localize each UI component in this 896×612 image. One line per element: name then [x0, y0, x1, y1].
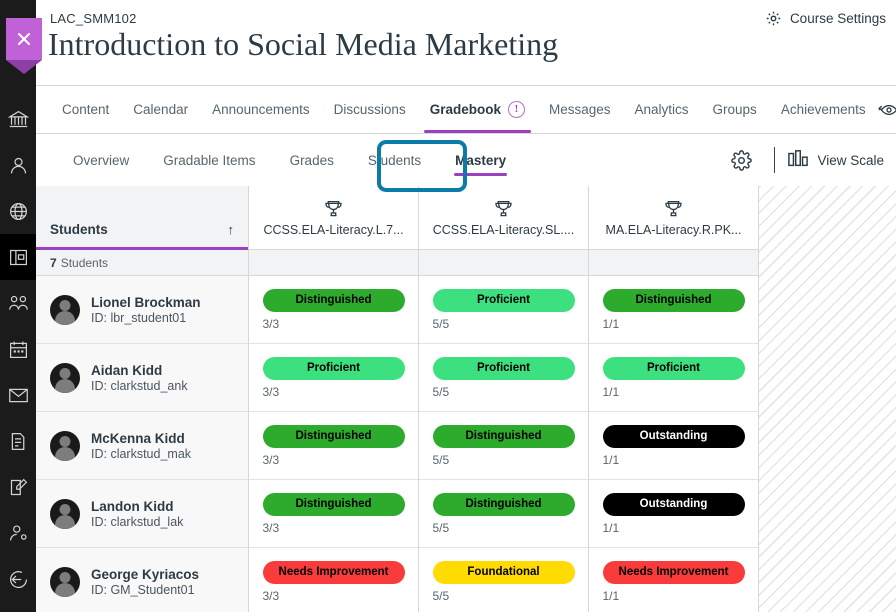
mastery-gradebook-grid: Students ↑ 7 Students Lionel BrockmanID:…	[36, 186, 896, 612]
mastery-rating-pill[interactable]: Outstanding	[603, 425, 745, 448]
tab-students[interactable]: Students	[351, 134, 438, 186]
student-row[interactable]: Landon KiddID: clarkstud_lak	[36, 480, 248, 548]
course-nav: ContentCalendarAnnouncementsDiscussionsG…	[36, 86, 896, 134]
mastery-score: 5/5	[433, 317, 575, 331]
mastery-rating-pill[interactable]: Distinguished	[433, 425, 575, 448]
student-row[interactable]: Lionel BrockmanID: lbr_student01	[36, 276, 248, 344]
mastery-cell: Foundational5/5	[419, 548, 588, 612]
gradebook-alert-badge: !	[508, 101, 525, 118]
nav-item-label: Gradebook	[430, 102, 501, 117]
mastery-cell: Proficient3/3	[249, 344, 418, 412]
student-id: ID: clarkstud_ank	[91, 379, 188, 393]
mastery-rating-pill[interactable]: Outstanding	[603, 493, 745, 516]
outcome-column-header[interactable]: CCSS.ELA-Literacy.SL....	[419, 186, 588, 250]
student-name: Landon Kidd	[91, 499, 183, 514]
student-id: ID: lbr_student01	[91, 311, 201, 325]
nav-item-gradebook[interactable]: Gradebook!	[418, 86, 537, 133]
sort-ascending-icon[interactable]: ↑	[228, 222, 235, 237]
mastery-score: 3/3	[263, 453, 405, 467]
assignments-icon[interactable]	[0, 418, 36, 464]
student-id: ID: GM_Student01	[91, 583, 199, 597]
gradebook-mastery-page: LAC_SMM102 Introduction to Social Media …	[0, 0, 896, 612]
outcome-column: MA.ELA-Literacy.R.PK...Distinguished1/1P…	[588, 186, 758, 612]
student-name: Lionel Brockman	[91, 295, 201, 310]
mastery-rating-pill[interactable]: Needs Improvement	[263, 561, 405, 584]
empty-grid-area	[758, 186, 896, 612]
student-view-eye-icon[interactable]	[878, 100, 896, 120]
mastery-score: 5/5	[433, 521, 575, 535]
student-name: Aidan Kidd	[91, 363, 188, 378]
mastery-score: 1/1	[603, 317, 745, 331]
nav-item-label: Content	[62, 102, 109, 117]
tab-label: Mastery	[455, 153, 506, 168]
nav-item-label: Analytics	[635, 102, 689, 117]
avatar	[50, 363, 80, 393]
student-count-label: Students	[61, 256, 108, 270]
close-icon[interactable]	[6, 18, 42, 60]
mastery-score: 3/3	[263, 317, 405, 331]
tab-gradable-items[interactable]: Gradable Items	[146, 134, 272, 186]
nav-item-calendar[interactable]: Calendar	[121, 86, 200, 133]
mastery-rating-pill[interactable]: Proficient	[603, 357, 745, 380]
tab-label: Overview	[73, 153, 129, 168]
globe-icon[interactable]	[0, 188, 36, 234]
mastery-cell: Needs Improvement3/3	[249, 548, 418, 612]
mastery-score: 3/3	[263, 385, 405, 399]
mastery-cell: Outstanding1/1	[589, 412, 758, 480]
nav-item-groups[interactable]: Groups	[701, 86, 769, 133]
tab-label: Grades	[290, 153, 334, 168]
nav-item-discussions[interactable]: Discussions	[322, 86, 418, 133]
mastery-cell: Distinguished3/3	[249, 480, 418, 548]
student-count: 7 Students	[36, 250, 248, 276]
tab-label: Gradable Items	[163, 153, 255, 168]
mastery-rating-pill[interactable]: Distinguished	[603, 289, 745, 312]
account-icon[interactable]	[0, 142, 36, 188]
mastery-cell: Distinguished3/3	[249, 276, 418, 344]
outcome-trophy-icon	[493, 199, 514, 220]
outcome-column: CCSS.ELA-Literacy.SL....Proficient5/5Pro…	[418, 186, 588, 612]
outcome-column-header[interactable]: CCSS.ELA-Literacy.L.7...	[249, 186, 418, 250]
mastery-score: 5/5	[433, 385, 575, 399]
nav-item-announcements[interactable]: Announcements	[200, 86, 322, 133]
global-nav-rail	[0, 0, 36, 612]
student-count-number: 7	[50, 256, 57, 270]
outcome-columns: CCSS.ELA-Literacy.L.7...Distinguished3/3…	[248, 186, 758, 612]
groups-icon[interactable]	[0, 280, 36, 326]
tab-overview[interactable]: Overview	[56, 134, 146, 186]
institution-icon[interactable]	[0, 96, 36, 142]
student-row[interactable]: Aidan KiddID: clarkstud_ank	[36, 344, 248, 412]
nav-item-analytics[interactable]: Analytics	[623, 86, 701, 133]
mastery-rating-pill[interactable]: Proficient	[433, 289, 575, 312]
outcome-column-header[interactable]: MA.ELA-Literacy.R.PK...	[589, 186, 758, 250]
outcome-title: CCSS.ELA-Literacy.L.7...	[263, 223, 403, 237]
student-name: George Kyriacos	[91, 567, 199, 582]
student-id: ID: clarkstud_mak	[91, 447, 191, 461]
tab-label: Students	[368, 153, 421, 168]
avatar	[50, 295, 80, 325]
nav-item-label: Groups	[713, 102, 757, 117]
calendar-icon[interactable]	[0, 326, 36, 372]
outcome-title: CCSS.ELA-Literacy.SL....	[433, 223, 575, 237]
outcome-column-spacer	[249, 250, 418, 276]
mastery-rating-pill[interactable]: Distinguished	[263, 289, 405, 312]
student-row[interactable]: McKenna KiddID: clarkstud_mak	[36, 412, 248, 480]
view-scale-button[interactable]: View Scale	[787, 149, 888, 172]
course-nav-list: ContentCalendarAnnouncementsDiscussionsG…	[36, 86, 896, 133]
subnav-actions: View Scale	[721, 134, 888, 186]
compose-icon[interactable]	[0, 464, 36, 510]
mastery-score: 1/1	[603, 453, 745, 467]
nav-item-label: Announcements	[212, 102, 310, 117]
mastery-cell: Proficient5/5	[419, 344, 588, 412]
course-settings-button[interactable]: Course Settings	[765, 10, 886, 27]
courses-icon[interactable]	[0, 234, 36, 280]
nav-item-achievements[interactable]: Achievements	[769, 86, 878, 133]
students-header-label: Students	[50, 222, 108, 237]
students-column: Students ↑ 7 Students Lionel BrockmanID:…	[36, 186, 248, 612]
mastery-rating-pill[interactable]: Distinguished	[263, 493, 405, 516]
rail-icon-list	[0, 96, 36, 602]
inbox-icon[interactable]	[0, 372, 36, 418]
gradebook-subnav: OverviewGradable ItemsGradesStudentsMast…	[36, 134, 896, 186]
mastery-score: 3/3	[263, 521, 405, 535]
settings-gear-icon[interactable]	[721, 144, 762, 177]
mastery-cell: Distinguished1/1	[589, 276, 758, 344]
outcome-column-spacer	[589, 250, 758, 276]
bar-chart-icon	[787, 149, 809, 172]
mastery-cell: Distinguished5/5	[419, 480, 588, 548]
mastery-rating-pill[interactable]: Distinguished	[433, 493, 575, 516]
outcome-title: MA.ELA-Literacy.R.PK...	[606, 223, 742, 237]
outcome-column: CCSS.ELA-Literacy.L.7...Distinguished3/3…	[248, 186, 418, 612]
student-row-list: Lionel BrockmanID: lbr_student01Aidan Ki…	[36, 276, 248, 612]
outcome-column-spacer	[419, 250, 588, 276]
mastery-cell: Needs Improvement1/1	[589, 548, 758, 612]
logout-icon[interactable]	[0, 556, 36, 602]
nav-item-label: Discussions	[334, 102, 406, 117]
avatar	[50, 499, 80, 529]
student-row[interactable]: George KyriacosID: GM_Student01	[36, 548, 248, 612]
mastery-cell: Proficient1/1	[589, 344, 758, 412]
nav-item-messages[interactable]: Messages	[537, 86, 623, 133]
outcome-trophy-icon	[323, 199, 344, 220]
mastery-score: 5/5	[433, 589, 575, 603]
view-scale-label: View Scale	[817, 153, 884, 168]
course-settings-label: Course Settings	[790, 11, 886, 26]
mastery-cell: Proficient5/5	[419, 276, 588, 344]
mastery-rating-pill[interactable]: Needs Improvement	[603, 561, 745, 584]
course-header: LAC_SMM102 Introduction to Social Media …	[36, 0, 896, 86]
nav-item-label: Calendar	[133, 102, 188, 117]
mastery-cell: Outstanding1/1	[589, 480, 758, 548]
page-title: Introduction to Social Media Marketing	[48, 26, 558, 63]
course-code: LAC_SMM102	[50, 11, 137, 26]
mastery-rating-pill[interactable]: Proficient	[263, 357, 405, 380]
outcome-trophy-icon	[663, 199, 684, 220]
student-id: ID: clarkstud_lak	[91, 515, 183, 529]
gear-icon	[765, 10, 782, 27]
student-name: McKenna Kidd	[91, 431, 191, 446]
mastery-rating-pill[interactable]: Foundational	[433, 561, 575, 584]
nav-item-label: Messages	[549, 102, 611, 117]
mastery-score: 3/3	[263, 589, 405, 603]
tab-mastery[interactable]: Mastery	[438, 134, 523, 186]
nav-item-label: Achievements	[781, 102, 866, 117]
mastery-cell: Distinguished3/3	[249, 412, 418, 480]
mastery-score: 1/1	[603, 521, 745, 535]
mastery-score: 1/1	[603, 385, 745, 399]
mastery-cell: Distinguished5/5	[419, 412, 588, 480]
mastery-rating-pill[interactable]: Proficient	[433, 357, 575, 380]
students-column-header[interactable]: Students ↑	[36, 186, 248, 250]
mastery-rating-pill[interactable]: Distinguished	[263, 425, 405, 448]
mastery-score: 1/1	[603, 589, 745, 603]
avatar	[50, 567, 80, 597]
people-icon[interactable]	[0, 510, 36, 556]
subnav-divider	[774, 147, 775, 173]
tab-grades[interactable]: Grades	[273, 134, 351, 186]
nav-item-content[interactable]: Content	[50, 86, 121, 133]
avatar	[50, 431, 80, 461]
mastery-score: 5/5	[433, 453, 575, 467]
ribbon-tail	[6, 60, 42, 74]
